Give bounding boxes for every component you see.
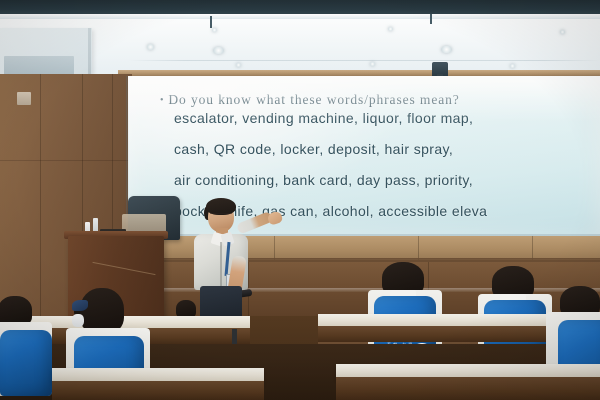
downlight-icon [441,46,452,53]
desk-row-1-panel [52,381,264,400]
desk-row-1-right-panel [336,377,600,400]
downlight-icon [560,30,565,34]
wood-seam [40,74,41,320]
hair-bow [72,300,88,311]
downlight-icon [510,64,515,68]
downlight-icon [147,44,154,50]
screen-glare [128,76,600,122]
air-vent [4,56,74,76]
wood-seam [418,236,419,260]
classroom-photo: •Do you know what these words/phrases me… [0,0,600,400]
downlight-icon [388,27,393,31]
soffit-edge [88,28,91,76]
downlight-icon [370,62,375,66]
slide-line-2: cash, QR code, locker, deposit, hair spr… [174,141,600,157]
downlight-icon [213,47,224,54]
ceiling-seam [128,60,600,61]
face-mask [72,314,84,327]
ceiling-joint [210,16,212,28]
downlight-icon [212,28,217,32]
downlight-icon [236,63,241,67]
ceiling-bevel [0,14,600,19]
glasses-icon [210,213,232,218]
slide-line-3: air conditioning, bank card, day pass, p… [174,172,600,188]
wood-seam-horizontal [0,160,132,161]
wall-plate [17,92,31,105]
wood-seam [532,236,533,260]
wood-seam [274,236,275,260]
ceiling-joint [430,14,432,24]
student-vest [0,330,52,396]
presenter-shirt-placket [220,242,222,288]
presenter [186,198,272,324]
